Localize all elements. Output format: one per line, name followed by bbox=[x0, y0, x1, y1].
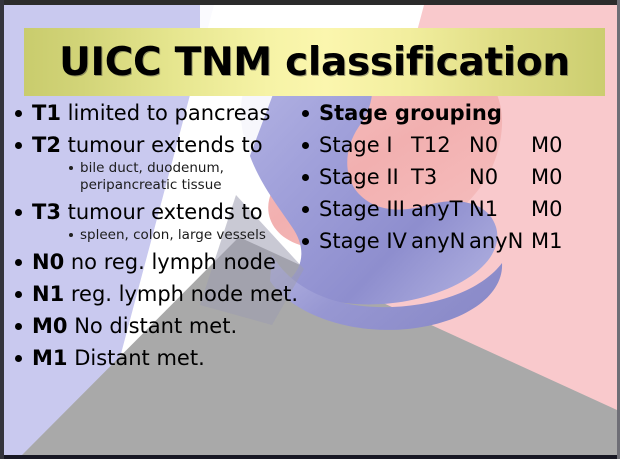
stage-name: Stage I bbox=[319, 131, 411, 159]
tnm-code: M1 bbox=[32, 346, 68, 370]
stage-t: T3 bbox=[411, 163, 469, 191]
stage-grouping-column: Stage grouping Stage IT12N0M0 Stage IIT3… bbox=[297, 99, 613, 259]
stage-grouping-header: Stage grouping bbox=[297, 99, 613, 127]
tnm-code: N0 bbox=[32, 250, 64, 274]
tnm-code: T1 bbox=[32, 101, 61, 125]
slide: UICC TNM classification T1 limited to pa… bbox=[0, 0, 620, 459]
bullet-icon bbox=[15, 291, 22, 298]
stage-grouping-label: Stage grouping bbox=[319, 101, 502, 125]
tnm-description: No distant met. bbox=[68, 314, 238, 338]
list-item-n1: N1 reg. lymph node met. bbox=[10, 280, 306, 308]
bullet-icon bbox=[15, 209, 22, 216]
stage-t: anyN bbox=[411, 227, 469, 255]
bullet-icon bbox=[302, 110, 309, 117]
title-band: UICC TNM classification bbox=[24, 28, 605, 96]
stage-name: Stage III bbox=[319, 195, 411, 223]
bullet-icon bbox=[302, 174, 309, 181]
bullet-icon bbox=[302, 238, 309, 245]
stage-m: M0 bbox=[531, 131, 562, 159]
bullet-icon bbox=[302, 206, 309, 213]
sub-text: spleen, colon, large vessels bbox=[80, 227, 306, 244]
tnm-code: T3 bbox=[32, 200, 61, 224]
tnm-code: N1 bbox=[32, 282, 64, 306]
table-row: Stage IVanyNanyNM1 bbox=[297, 227, 613, 255]
stage-n: N1 bbox=[469, 195, 531, 223]
tnm-description: tumour extends to bbox=[61, 133, 263, 157]
page-title: UICC TNM classification bbox=[59, 43, 570, 82]
list-item-t3: T3 tumour extends to spleen, colon, larg… bbox=[10, 198, 306, 244]
stage-name: Stage II bbox=[319, 163, 411, 191]
stage-n: N0 bbox=[469, 163, 531, 191]
tnm-description: reg. lymph node met. bbox=[64, 282, 298, 306]
list-item-t2: T2 tumour extends to bile duct, duodenum… bbox=[10, 131, 306, 194]
tnm-description: limited to pancreas bbox=[61, 101, 271, 125]
list-item-m1: M1 Distant met. bbox=[10, 344, 306, 372]
tnm-code: M0 bbox=[32, 314, 68, 338]
stage-name: Stage IV bbox=[319, 227, 411, 255]
stage-t: T12 bbox=[411, 131, 469, 159]
tnm-sublist: spleen, colon, large vessels bbox=[32, 227, 306, 244]
list-item-sub: spleen, colon, large vessels bbox=[80, 227, 306, 244]
stage-n: anyN bbox=[469, 227, 531, 255]
list-item-m0: M0 No distant met. bbox=[10, 312, 306, 340]
stage-grouping-list: Stage grouping Stage IT12N0M0 Stage IIT3… bbox=[297, 99, 613, 255]
tnm-code: T2 bbox=[32, 133, 61, 157]
stage-m: M0 bbox=[531, 163, 562, 191]
table-row: Stage IIIanyTN1M0 bbox=[297, 195, 613, 223]
frame-bottom-border bbox=[0, 455, 620, 459]
tnm-list: T1 limited to pancreas T2 tumour extends… bbox=[10, 99, 306, 372]
table-row: Stage IIT3N0M0 bbox=[297, 163, 613, 191]
bullet-small-icon bbox=[69, 233, 73, 237]
stage-m: M1 bbox=[531, 227, 562, 255]
stage-n: N0 bbox=[469, 131, 531, 159]
frame-top-border bbox=[0, 0, 620, 5]
bullet-small-icon bbox=[69, 166, 73, 170]
list-item-n0: N0 no reg. lymph node bbox=[10, 248, 306, 276]
list-item-sub: bile duct, duodenum, peripancreatic tiss… bbox=[80, 160, 306, 194]
bullet-icon bbox=[15, 355, 22, 362]
tnm-sublist: bile duct, duodenum, peripancreatic tiss… bbox=[32, 160, 306, 194]
stage-m: M0 bbox=[531, 195, 562, 223]
bullet-icon bbox=[302, 142, 309, 149]
sub-text: peripancreatic tissue bbox=[80, 177, 306, 194]
list-item-t1: T1 limited to pancreas bbox=[10, 99, 306, 127]
tnm-description: no reg. lymph node bbox=[64, 250, 276, 274]
sub-text: bile duct, duodenum, bbox=[80, 160, 306, 177]
stage-t: anyT bbox=[411, 195, 469, 223]
bullet-icon bbox=[15, 323, 22, 330]
frame-left-border bbox=[0, 0, 4, 459]
bullet-icon bbox=[15, 259, 22, 266]
table-row: Stage IT12N0M0 bbox=[297, 131, 613, 159]
bullet-icon bbox=[15, 110, 22, 117]
tnm-description: Distant met. bbox=[68, 346, 205, 370]
bullet-icon bbox=[15, 142, 22, 149]
tnm-description: tumour extends to bbox=[61, 200, 263, 224]
tnm-definitions-column: T1 limited to pancreas T2 tumour extends… bbox=[10, 99, 306, 376]
